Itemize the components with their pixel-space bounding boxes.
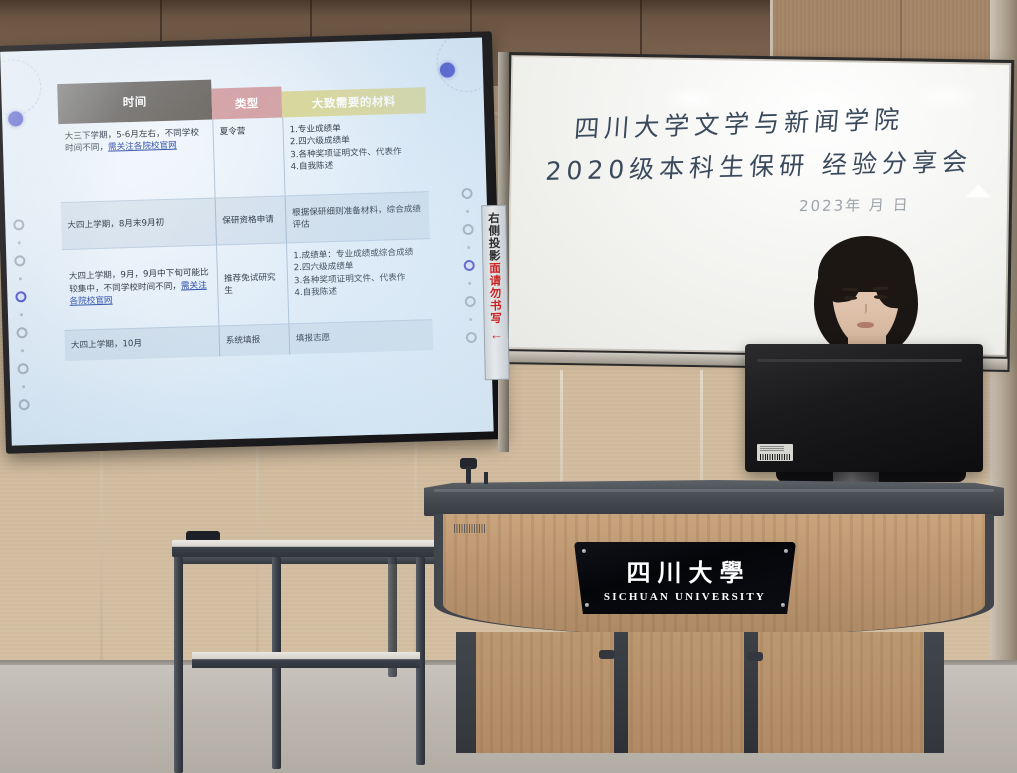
progress-tick xyxy=(18,241,21,244)
progress-dot[interactable] xyxy=(461,188,472,199)
projection-warning-sign: 右侧投影 面请勿书写 ← xyxy=(481,205,510,380)
screw-icon xyxy=(585,603,589,607)
progress-dot[interactable] xyxy=(16,327,27,338)
progress-dot-active[interactable] xyxy=(15,291,26,302)
material-item: 4.自我陈述 xyxy=(294,284,425,300)
cell-time: 大四上学期，8月末9月初 xyxy=(61,199,216,250)
progress-dot-active[interactable] xyxy=(464,260,475,271)
progress-dot[interactable] xyxy=(14,255,25,266)
whiteboard-line-2: 2020级本科生保研 经验分享会 xyxy=(544,142,973,188)
podium-base-panel xyxy=(470,632,940,753)
plaque-chinese-name: 四川大學 xyxy=(620,553,751,588)
cell-type: 系统填报 xyxy=(218,324,289,356)
person-eye-left xyxy=(844,296,857,300)
cell-time: 大三下学期，5-6月左右，不同学校时间不同，需关注各院校官网 xyxy=(58,120,214,203)
decor-dot-icon xyxy=(8,111,23,126)
progress-dot[interactable] xyxy=(466,332,477,343)
progress-dot[interactable] xyxy=(13,219,24,230)
microphone-stem-secondary xyxy=(484,472,488,484)
progress-dot[interactable] xyxy=(465,296,476,307)
podium-top-highlight xyxy=(434,489,994,492)
podium-top-surface xyxy=(424,480,1004,516)
progress-tick xyxy=(469,318,472,321)
column-header-time: 时间 xyxy=(57,80,212,125)
cell-materials: 1.成绩单：专业成绩或综合成绩 2.四六级成绩单 3.各种奖项证明文件、代表作 … xyxy=(286,239,432,323)
screw-icon xyxy=(781,603,785,607)
podium-base-side-rail xyxy=(924,632,944,753)
podium-base-seam xyxy=(744,632,758,753)
decor-ring-icon xyxy=(0,59,42,117)
podium-base-side-rail xyxy=(456,632,476,753)
table-row: 大四上学期，9月，9月中下旬可能比较集中，不同学校时间不同，需关注各院校官网 推… xyxy=(62,239,432,330)
whiteboard-glare xyxy=(911,81,981,112)
progress-tick xyxy=(20,313,23,316)
whiteboard-surface[interactable]: 四川大学文学与新闻学院 2020级本科生保研 经验分享会 2023年 月 日 xyxy=(509,57,1009,355)
table-row: 大三下学期，5-6月左右，不同学校时间不同，需关注各院校官网 夏令营 1.专业成… xyxy=(58,113,428,202)
podium-latch-icon[interactable] xyxy=(747,652,763,661)
podium-base-seam xyxy=(614,632,628,753)
slide-progress-rail-left[interactable] xyxy=(13,219,30,421)
slide-progress-rail-right[interactable] xyxy=(461,188,477,354)
microphone-stem xyxy=(466,466,471,484)
cart-leg xyxy=(174,557,183,773)
warning-arrow-icon: ← xyxy=(490,326,503,341)
whiteboard-corner-reflection xyxy=(965,184,991,197)
plaque-english-name: SICHUAN UNIVERSITY xyxy=(604,591,766,603)
cart-top-shelf xyxy=(172,540,436,557)
cart-lower-shelf xyxy=(192,652,420,668)
cell-time-highlight: 需关注各院校官网 xyxy=(108,141,177,153)
screw-icon xyxy=(582,549,586,553)
cell-time: 大四上学期，10月 xyxy=(64,326,219,361)
warning-sign-text-red: 面请勿书写 xyxy=(489,262,502,325)
podium-small-badge xyxy=(454,524,486,533)
whiteboard[interactable]: 四川大学文学与新闻学院 2020级本科生保研 经验分享会 2023年 月 日 xyxy=(504,52,1015,360)
progress-tick xyxy=(22,385,25,388)
progress-dot[interactable] xyxy=(18,399,29,410)
warning-sign-text-black: 右侧投影 xyxy=(488,212,501,262)
cell-time: 大四上学期，9月，9月中下旬可能比较集中，不同学校时间不同，需关注各院校官网 xyxy=(62,246,218,331)
whiteboard-line-3-date: 2023年 月 日 xyxy=(798,194,910,216)
cell-materials: 填报志愿 xyxy=(288,320,433,354)
cell-type: 保研资格申请 xyxy=(215,196,286,244)
sichuan-university-plaque: 四川大學 SICHUAN UNIVERSITY xyxy=(574,542,796,614)
cell-materials: 根据保研细则准备材料，综合成绩评估 xyxy=(285,192,430,242)
progress-dot[interactable] xyxy=(17,363,28,374)
cell-materials: 1.专业成绩单 2.四六级成绩单 3.各种奖项证明文件、代表作 4.自我陈述 xyxy=(282,113,428,195)
progress-tick xyxy=(467,246,470,249)
progress-dot[interactable] xyxy=(462,224,473,235)
material-item: 4.自我陈述 xyxy=(291,158,422,174)
monitor-panel-back[interactable] xyxy=(745,344,983,472)
slide-table: 时间 类型 大致需要的材料 大三下学期，5-6月左右，不同学校时间不同，需关注各… xyxy=(57,73,433,361)
person-eye-right xyxy=(874,295,887,299)
person-nose xyxy=(860,304,867,314)
label-text-lines xyxy=(760,446,784,451)
cell-time-text: 大四上学期，8月末9月初 xyxy=(67,217,164,232)
screw-icon xyxy=(784,549,788,553)
progress-tick xyxy=(468,282,471,285)
monitor-spec-label xyxy=(757,444,793,461)
cell-type: 推荐免试研究生 xyxy=(216,243,288,325)
classroom-scene: 时间 类型 大致需要的材料 大三下学期，5-6月左右，不同学校时间不同，需关注各… xyxy=(0,0,1017,773)
podium-latch-icon[interactable] xyxy=(599,650,615,659)
cell-type: 夏令营 xyxy=(212,117,284,197)
progress-tick xyxy=(19,277,22,280)
slide-surface[interactable]: 时间 类型 大致需要的材料 大三下学期，5-6月左右，不同学校时间不同，需关注各… xyxy=(0,38,493,446)
whiteboard-line-1: 四川大学文学与新闻学院 xyxy=(573,100,906,146)
progress-tick xyxy=(21,349,24,352)
monitor-vent-groove xyxy=(757,359,962,362)
progress-tick xyxy=(466,210,469,213)
column-header-type: 类型 xyxy=(211,86,282,119)
person-mouth xyxy=(857,322,874,328)
barcode-icon xyxy=(760,454,790,460)
material-item: 填报志愿 xyxy=(296,332,331,345)
material-item: 根据保研细则准备材料，综合成绩评估 xyxy=(292,203,424,232)
led-display-screen[interactable]: 时间 类型 大致需要的材料 大三下学期，5-6月左右，不同学校时间不同，需关注各… xyxy=(0,31,504,454)
